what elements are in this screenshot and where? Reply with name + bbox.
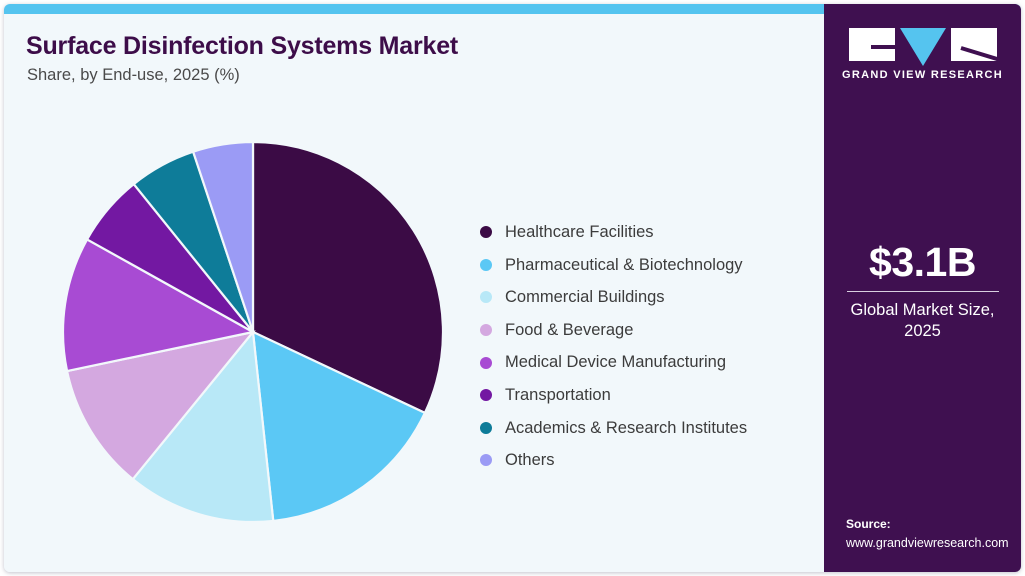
legend-item[interactable]: Commercial Buildings [480,281,810,314]
legend-item[interactable]: Medical Device Manufacturing [480,346,810,379]
brand-logo: GRAND VIEW RESEARCH [824,28,1021,81]
legend-swatch-icon [480,324,492,336]
legend-item[interactable]: Food & Beverage [480,314,810,347]
source-url[interactable]: www.grandviewresearch.com [846,534,1021,552]
chart-pane: Surface Disinfection Systems Market Shar… [4,14,824,572]
screenshot-frame: Surface Disinfection Systems Market Shar… [0,0,1025,576]
pie-slice-group [63,142,443,522]
logo-g-icon [849,28,895,61]
legend-label: Others [505,452,555,469]
legend-item[interactable]: Pharmaceutical & Biotechnology [480,249,810,282]
legend-item[interactable]: Others [480,444,810,477]
legend-label: Academics & Research Institutes [505,420,747,437]
legend-swatch-icon [480,259,492,271]
logo-v-triangle-icon [900,28,946,66]
source-label: Source: [846,516,1021,533]
legend-label: Healthcare Facilities [505,224,654,241]
logo-r-icon [951,28,997,61]
market-size-value: $3.1B [824,241,1021,284]
legend-item[interactable]: Academics & Research Institutes [480,412,810,445]
pie-chart-svg [61,140,445,524]
market-size-caption: Global Market Size, 2025 [824,300,1021,342]
legend-label: Transportation [505,387,611,404]
logo-marks [824,28,1021,61]
source-footer: Source: www.grandviewresearch.com [846,516,1021,552]
legend-label: Medical Device Manufacturing [505,354,726,371]
logo-wordmark: GRAND VIEW RESEARCH [824,69,1021,81]
chart-legend: Healthcare FacilitiesPharmaceutical & Bi… [480,216,810,477]
market-size-stat: $3.1B Global Market Size, 2025 [824,241,1021,342]
page-subtitle: Share, by End-use, 2025 (%) [27,66,240,85]
stat-divider [847,291,999,292]
legend-swatch-icon [480,291,492,303]
legend-label: Pharmaceutical & Biotechnology [505,257,743,274]
legend-swatch-icon [480,226,492,238]
pie-chart [61,140,445,524]
legend-swatch-icon [480,389,492,401]
brand-sidebar: GRAND VIEW RESEARCH $3.1B Global Market … [824,4,1021,572]
infographic-card: Surface Disinfection Systems Market Shar… [4,4,1021,572]
legend-item[interactable]: Healthcare Facilities [480,216,810,249]
page-title: Surface Disinfection Systems Market [26,32,458,61]
legend-label: Commercial Buildings [505,289,665,306]
legend-swatch-icon [480,454,492,466]
legend-swatch-icon [480,357,492,369]
legend-label: Food & Beverage [505,322,633,339]
legend-swatch-icon [480,422,492,434]
legend-item[interactable]: Transportation [480,379,810,412]
